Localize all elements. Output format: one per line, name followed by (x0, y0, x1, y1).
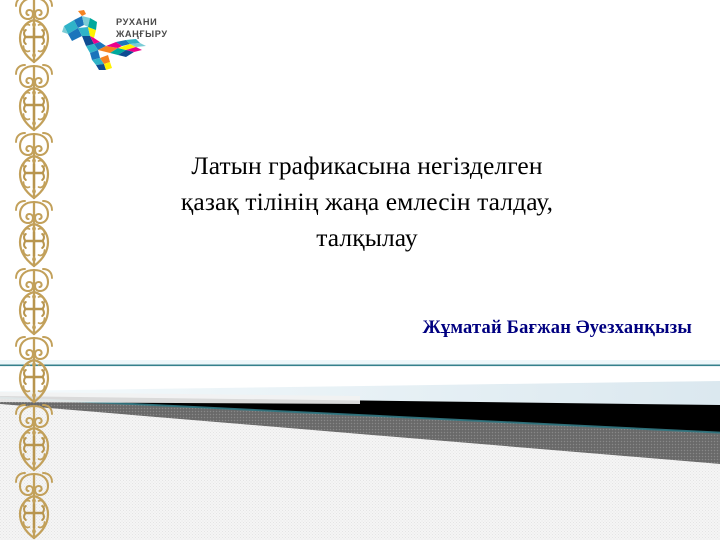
author-name: Жұматай Бағжан Әуезханқызы (422, 318, 692, 338)
slide-title-text: Латын графикасына негізделген қазақ тілі… (118, 148, 616, 256)
light-gray-bottom-tone (0, 404, 720, 540)
presentation-slide: РУХАНИ ЖАҢҒЫРУ Латын графикасына негізде… (0, 0, 720, 540)
author-line: Жұматай Бағжан Әуезханқызы (118, 318, 692, 339)
pale-blue-thin-strip (0, 360, 720, 365)
gray-slanted-band (0, 398, 720, 466)
logo-line-1: РУХАНИ (116, 17, 157, 27)
black-slanted-band (0, 396, 720, 452)
logo-wordmark: РУХАНИ ЖАҢҒЫРУ (115, 17, 168, 39)
teal-horizontal-rule (0, 365, 720, 367)
rukhani-zhangyru-logo: РУХАНИ ЖАҢҒЫРУ (60, 8, 170, 80)
light-gray-bottom-field (0, 404, 720, 540)
kazakh-ornament-border (12, 0, 56, 540)
bottom-decorative-bands (0, 0, 720, 540)
teal-slanted-hairline (0, 397, 720, 434)
slide-title: Латын графикасына негізделген қазақ тілі… (118, 148, 616, 256)
logo-line-2: ЖАҢҒЫРУ (115, 29, 168, 39)
pale-blue-wedge (0, 381, 720, 410)
